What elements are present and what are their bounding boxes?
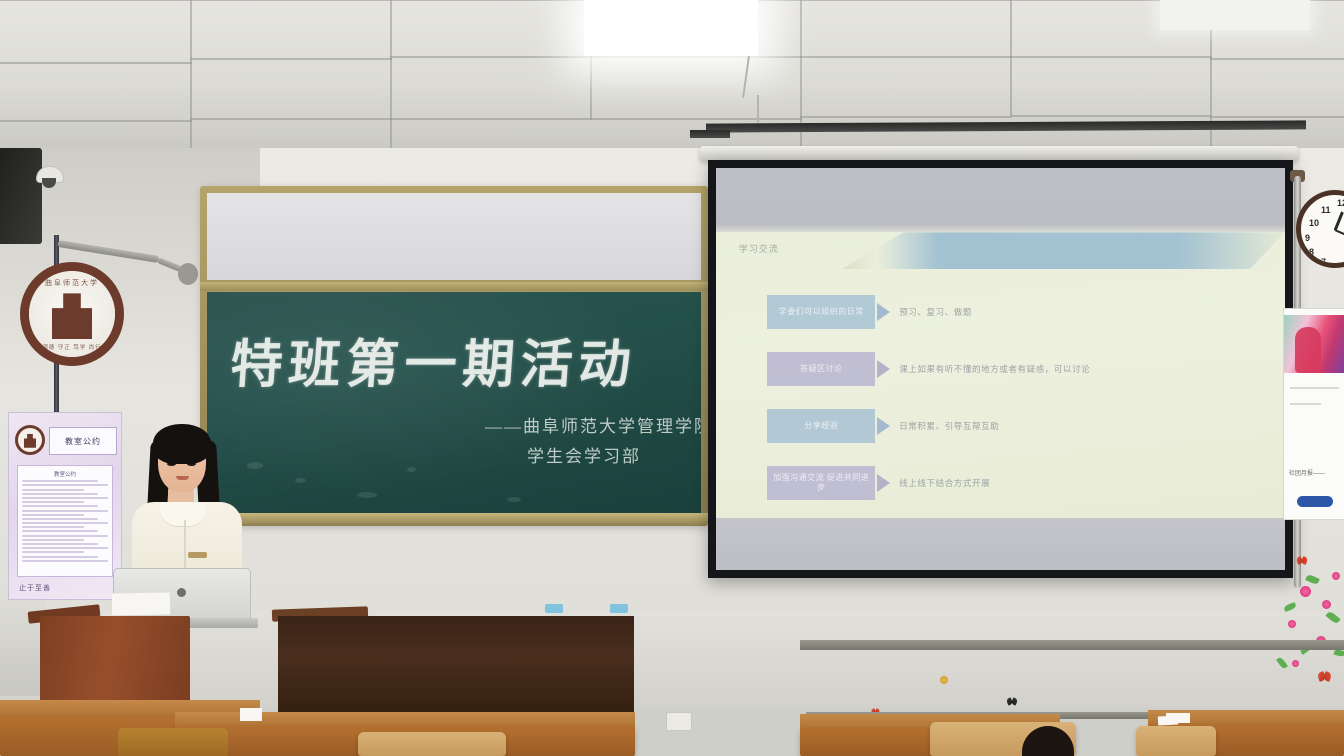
emblem-arc-text: 曲阜师范大学 [29, 278, 115, 288]
chalk-box-icon [610, 604, 628, 613]
slide-row-tag: 分享经验 [767, 409, 875, 443]
poster-heading: 教室公约 [22, 470, 108, 478]
ceiling [0, 0, 1344, 152]
poster-artwork [1284, 315, 1344, 373]
blackboard-attribution-line2: 学生会学习部 [527, 442, 641, 467]
wooden-chair [358, 732, 506, 756]
hair-top [153, 424, 211, 464]
arrow-right-icon [877, 474, 890, 492]
slide-row: 分享经验 日常积累、引导互帮互助 [767, 409, 999, 443]
slide-banner-shape [841, 232, 1285, 269]
power-outlet-icon[interactable] [666, 712, 692, 731]
slide-row-text: 课上如果有听不懂的地方或者有疑惑，可以讨论 [899, 363, 1090, 375]
school-emblem: 曲阜师范大学 明德 守正 笃学 尚行 [20, 262, 124, 366]
screen-roller-housing[interactable] [700, 146, 1298, 161]
emblem-motto: 明德 守正 笃学 尚行 [29, 343, 115, 351]
blackboard-headline: 特班第一期活动 [228, 322, 683, 397]
poster-caption: 社团月报—— [1289, 468, 1325, 477]
right-wall-poster: 社团月报—— [1283, 308, 1344, 520]
poster-badge-icon [15, 425, 45, 455]
blackboard-surface: 特班第一期活动 ——曲阜师范大学管理学院 学生会学习部 [207, 292, 701, 517]
poster-figure-icon [1295, 327, 1321, 373]
laptop-logo-icon [177, 588, 186, 597]
arrow-right-icon [877, 417, 890, 435]
slide-row: 加强沟通交流 促进共同进步 线上线下结合方式开展 [767, 466, 990, 500]
flower-decal-icon [940, 676, 948, 684]
slide-row-text: 预习、复习、做题 [899, 306, 972, 318]
screen-surface: 学习交流 学委们可以组织的日常 预习、复习、做题 答疑区讨论 课上如果有听不懂的… [716, 168, 1285, 570]
wall-speaker-icon [0, 148, 42, 244]
chalk-box-icon [545, 604, 563, 613]
wooden-chair [118, 728, 228, 756]
wooden-chair [1136, 726, 1216, 756]
panel-light-secondary [1160, 0, 1310, 30]
slide-row-text: 日常积累、引导互帮互助 [899, 420, 999, 432]
whiteboard-strip [207, 193, 701, 280]
poster-footer: 止于至善 [19, 583, 51, 593]
slide-row-tag: 答疑区讨论 [767, 352, 875, 386]
blackboard-divider [200, 282, 708, 291]
poster-logo-icon [1297, 496, 1333, 507]
arm-wall-mount [178, 263, 198, 285]
slide-row: 答疑区讨论 课上如果有听不懂的地方或者有疑惑，可以讨论 [767, 352, 1090, 386]
slide-title: 学习交流 [739, 242, 779, 255]
presentation-slide: 学习交流 学委们可以组织的日常 预习、复习、做题 答疑区讨论 课上如果有听不懂的… [716, 232, 1285, 517]
poster-body: 教室公约 [17, 465, 113, 577]
arrow-right-icon [877, 360, 890, 378]
jacket-badge [188, 552, 207, 558]
desk-note-card [1158, 715, 1178, 725]
clock-minute-hand [1335, 229, 1344, 243]
slide-row-tag: 加强沟通交流 促进共同进步 [767, 466, 875, 500]
dark-board-panel [278, 616, 634, 716]
chalk-tray [200, 513, 708, 526]
slide-row-tag: 学委们可以组织的日常 [767, 295, 875, 329]
mouth [176, 476, 189, 480]
projector-screen[interactable]: 学习交流 学委们可以组织的日常 预习、复习、做题 答疑区讨论 课上如果有听不懂的… [708, 160, 1293, 578]
emblem-book-icon [52, 293, 92, 339]
desk-rail [800, 640, 1344, 650]
panel-light [584, 0, 758, 56]
classroom-scene: 曲阜师范大学 明德 守正 笃学 尚行 教室公约 教室公约 止于至善 特班第一期活… [0, 0, 1344, 756]
poster-title: 教室公约 [49, 427, 117, 455]
blackboard-attribution-line1: ——曲阜师范大学管理学院 [485, 412, 701, 437]
arrow-right-icon [877, 303, 890, 321]
slide-row: 学委们可以组织的日常 预习、复习、做题 [767, 295, 972, 329]
desk-note-card [240, 708, 262, 721]
slide-row-text: 线上线下结合方式开展 [899, 477, 990, 489]
paper-sheet [112, 592, 170, 615]
classroom-rules-poster: 教室公约 教室公约 止于至善 [8, 412, 122, 600]
